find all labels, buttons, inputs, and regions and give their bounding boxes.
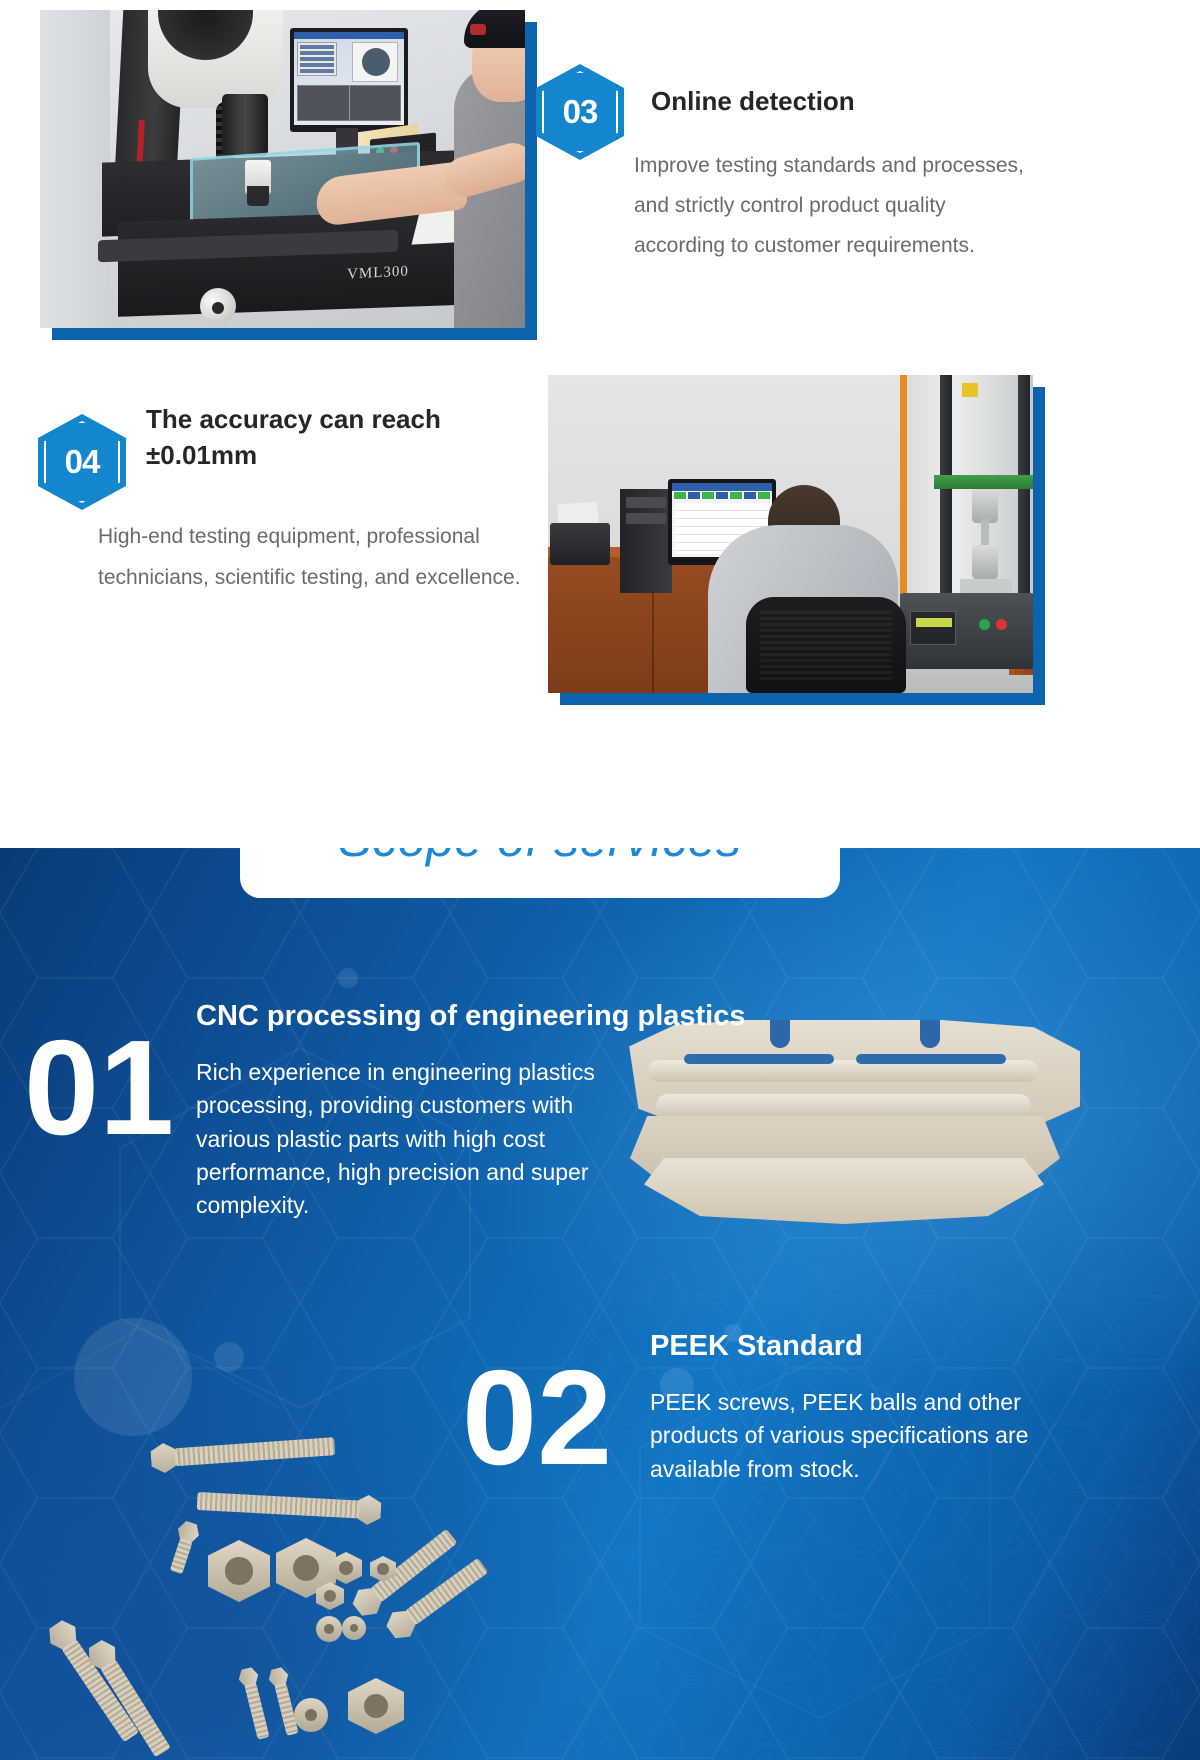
peek-screws-photo bbox=[30, 1430, 500, 1750]
feature-body-online-detection: Improve testing standards and processes,… bbox=[634, 146, 1034, 266]
banner-title-text: Scope of services bbox=[338, 848, 741, 868]
feature-body-accuracy: High-end testing equipment, professional… bbox=[98, 517, 538, 599]
tensile-testing-machine-photo bbox=[548, 375, 1033, 693]
service-title-cnc: CNC processing of engineering plastics bbox=[196, 1000, 956, 1033]
service-number-01: 01 bbox=[24, 1020, 174, 1155]
hexagon-number-badge-04: 04 bbox=[38, 414, 126, 510]
service-body-cnc: Rich experience in engineering plastics … bbox=[196, 1056, 626, 1223]
service-body-peek: PEEK screws, PEEK balls and other produc… bbox=[650, 1386, 1070, 1486]
machine-model-label: VML300 bbox=[330, 257, 426, 288]
top-features-section: VML300 03 Online detection Improve testi… bbox=[0, 0, 1200, 848]
scope-of-services-banner: Scope of services bbox=[240, 848, 840, 898]
scope-of-services-section: Scope of services 01 CNC processing of e… bbox=[0, 848, 1200, 1760]
service-number-02: 02 bbox=[462, 1350, 612, 1485]
badge-number: 04 bbox=[38, 414, 126, 510]
online-detection-photo-frame: VML300 bbox=[40, 10, 525, 328]
video-measuring-machine-photo: VML300 bbox=[40, 10, 525, 328]
testing-lab-photo-frame bbox=[548, 375, 1033, 693]
measuring-software-monitor bbox=[290, 28, 408, 132]
feature-title-online-detection: Online detection bbox=[651, 84, 1051, 120]
badge-number: 03 bbox=[536, 64, 624, 160]
hexagon-number-badge-03: 03 bbox=[536, 64, 624, 160]
peek-machined-part-photo bbox=[620, 1020, 1080, 1270]
feature-title-accuracy: The accuracy can reach ±0.01mm bbox=[146, 402, 526, 474]
service-title-peek: PEEK Standard bbox=[650, 1330, 1170, 1363]
